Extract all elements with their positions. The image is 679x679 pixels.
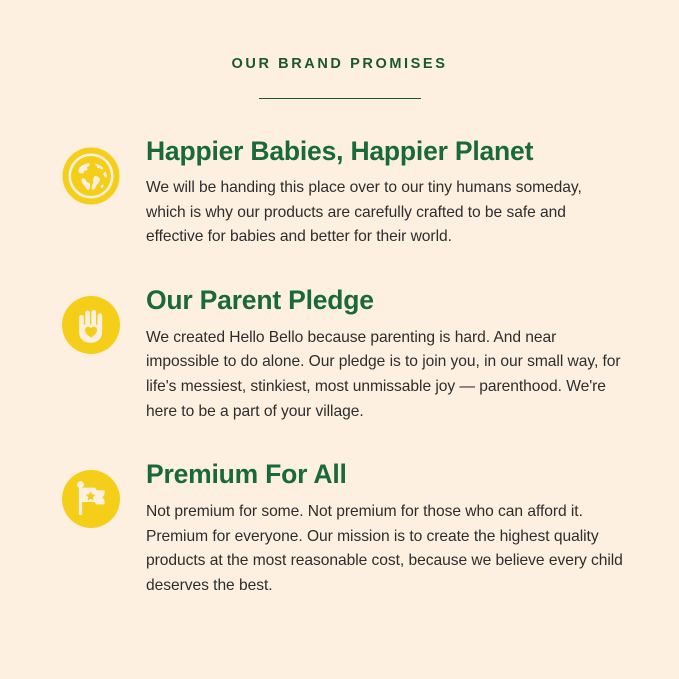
promise-heading: Happier Babies, Happier Planet bbox=[146, 137, 623, 167]
promises-list: Happier Babies, Happier Planet We will b… bbox=[0, 137, 679, 599]
promise-heading: Premium For All bbox=[146, 460, 623, 490]
promise-content: Premium For All Not premium for some. No… bbox=[146, 460, 623, 598]
promise-heading: Our Parent Pledge bbox=[146, 286, 623, 316]
brand-promises-page: OUR BRAND PROMISES bbox=[0, 0, 679, 679]
promise-description: We created Hello Bello because parenting… bbox=[146, 326, 623, 425]
globe-icon-badge bbox=[62, 147, 120, 205]
promise-content: Our Parent Pledge We created Hello Bello… bbox=[146, 286, 623, 424]
list-item: Happier Babies, Happier Planet We will b… bbox=[62, 137, 623, 251]
promise-description: We will be handing this place over to ou… bbox=[146, 176, 623, 250]
page-header: OUR BRAND PROMISES bbox=[0, 0, 679, 99]
hand-heart-icon-badge bbox=[62, 296, 120, 354]
hand-heart-icon bbox=[71, 305, 111, 345]
flag-star-icon bbox=[70, 478, 112, 520]
promise-description: Not premium for some. Not premium for th… bbox=[146, 500, 623, 599]
title-divider bbox=[259, 98, 421, 99]
title-divider-container bbox=[0, 98, 679, 99]
globe-icon bbox=[62, 147, 120, 205]
list-item: Our Parent Pledge We created Hello Bello… bbox=[62, 286, 623, 424]
promise-content: Happier Babies, Happier Planet We will b… bbox=[146, 137, 623, 251]
page-title: OUR BRAND PROMISES bbox=[0, 57, 679, 72]
list-item: Premium For All Not premium for some. No… bbox=[62, 460, 623, 598]
flag-star-icon-badge bbox=[62, 470, 120, 528]
